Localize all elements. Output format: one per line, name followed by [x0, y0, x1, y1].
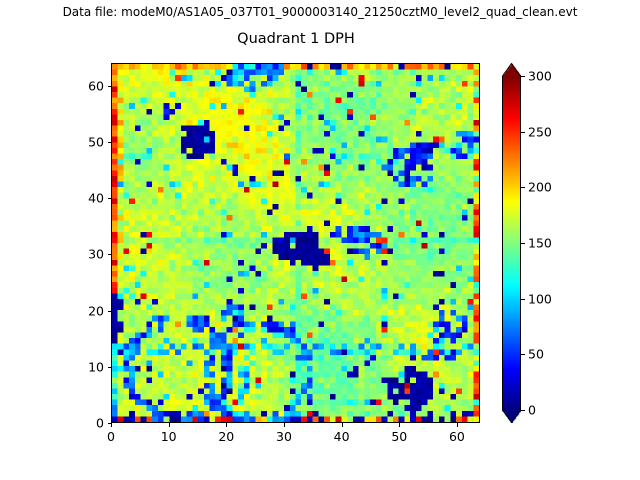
colorbar-tick-mark-300 — [521, 76, 525, 77]
x-tick-label-20: 20 — [218, 429, 234, 444]
y-tick-label-10: 10 — [63, 359, 104, 374]
figure-canvas: Data file: modeM0/AS1A05_037T01_90000031… — [0, 0, 640, 480]
y-tick-label-30: 30 — [63, 247, 104, 262]
y-tick-mark-50 — [108, 142, 112, 143]
colorbar-tick-label-100: 100 — [528, 291, 552, 306]
colorbar-tick-mark-50 — [521, 354, 525, 355]
x-tick-mark-10 — [169, 423, 170, 427]
x-tick-label-0: 0 — [107, 429, 115, 444]
colorbar-gradient — [502, 63, 521, 423]
colorbar-tick-label-200: 200 — [528, 180, 552, 195]
colorbar-tick-mark-150 — [521, 243, 525, 244]
x-tick-mark-50 — [399, 423, 400, 427]
page-title: Quadrant 1 DPH — [0, 31, 592, 47]
colorbar-tick-label-150: 150 — [528, 236, 552, 251]
colorbar-tick-mark-200 — [521, 187, 525, 188]
colorbar-tick-mark-250 — [521, 132, 525, 133]
x-tick-mark-30 — [284, 423, 285, 427]
y-tick-label-0: 0 — [63, 416, 104, 431]
y-tick-label-40: 40 — [63, 191, 104, 206]
x-tick-mark-60 — [457, 423, 458, 427]
x-tick-mark-40 — [342, 423, 343, 427]
colorbar — [502, 63, 521, 423]
y-tick-mark-10 — [108, 367, 112, 368]
colorbar-tick-mark-100 — [521, 299, 525, 300]
colorbar-tick-mark-0 — [521, 410, 525, 411]
x-tick-mark-20 — [226, 423, 227, 427]
x-tick-mark-0 — [111, 423, 112, 427]
x-tick-label-10: 10 — [161, 429, 177, 444]
colorbar-tick-label-0: 0 — [528, 403, 536, 418]
y-tick-label-60: 60 — [63, 78, 104, 93]
colorbar-tick-label-300: 300 — [528, 69, 552, 84]
y-tick-mark-30 — [108, 254, 112, 255]
x-tick-label-40: 40 — [334, 429, 350, 444]
y-tick-mark-60 — [108, 86, 112, 87]
x-tick-label-30: 30 — [276, 429, 292, 444]
dph-heatmap-image — [112, 64, 479, 422]
colorbar-tick-label-250: 250 — [528, 124, 552, 139]
y-tick-label-50: 50 — [63, 134, 104, 149]
colorbar-tick-label-50: 50 — [528, 347, 544, 362]
y-tick-mark-40 — [108, 198, 112, 199]
x-tick-label-60: 60 — [449, 429, 465, 444]
data-file-suptitle: Data file: modeM0/AS1A05_037T01_90000031… — [0, 5, 640, 19]
y-tick-label-20: 20 — [63, 303, 104, 318]
y-tick-mark-20 — [108, 311, 112, 312]
x-tick-label-50: 50 — [391, 429, 407, 444]
heatmap-axes — [111, 63, 480, 423]
y-tick-mark-0 — [108, 423, 112, 424]
